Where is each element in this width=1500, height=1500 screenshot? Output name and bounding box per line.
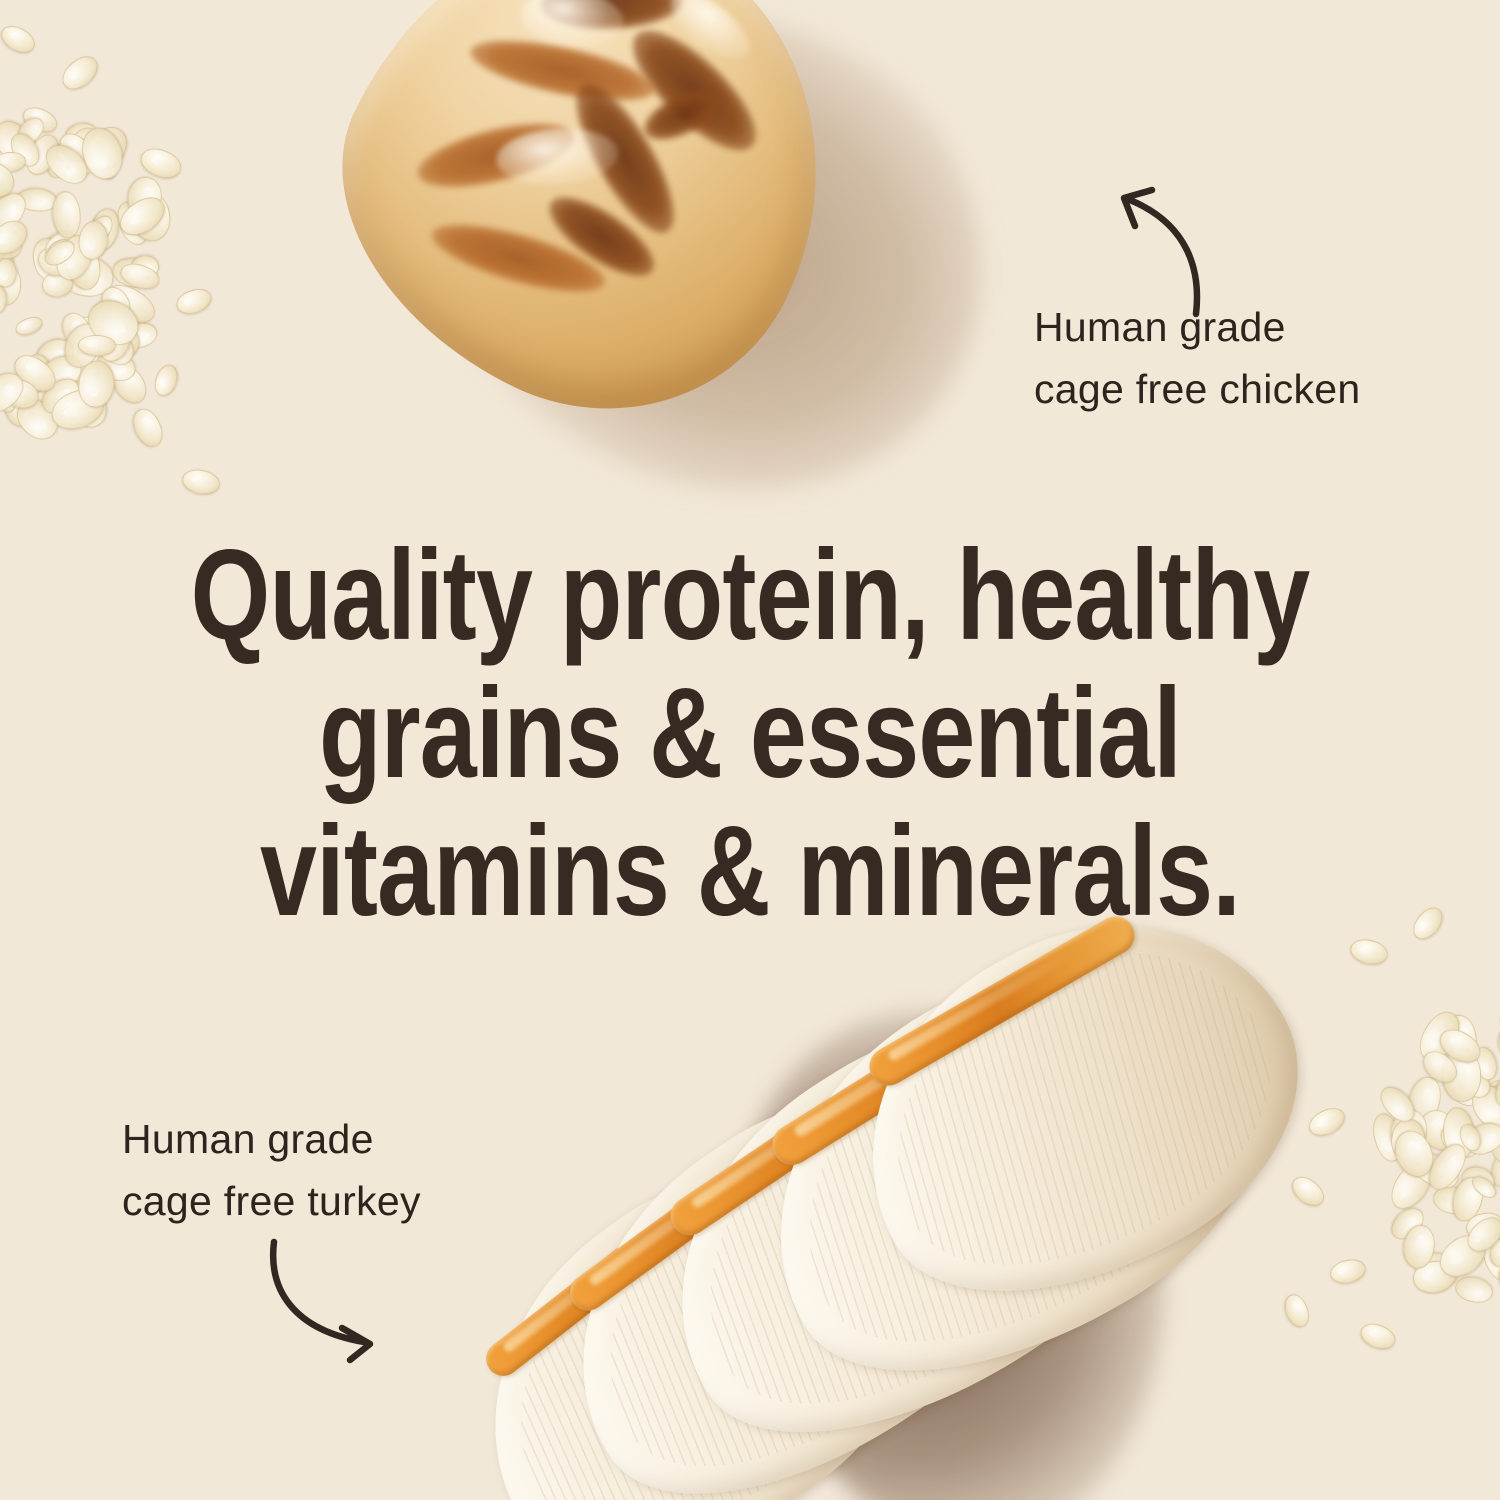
oat-flake [0,210,1,278]
oat-flake [1384,1154,1441,1216]
oat-flake [21,129,66,180]
oat-flake [0,153,20,205]
oat-flake [1457,1162,1499,1200]
callout-turkey-line-1: Human grade [122,1108,421,1170]
oat-flake [38,137,94,191]
oat-flake [62,326,112,377]
oat-flake [1461,1211,1500,1258]
oat-flake [58,318,109,375]
oat-flake [1479,1077,1500,1128]
oat-flake [1495,1074,1500,1107]
oat-flake [29,332,80,381]
oat-flake [180,466,222,498]
callout-turkey-line-2: cage free turkey [122,1170,421,1232]
oat-flake [93,346,140,385]
oat-flake [117,259,162,293]
oat-flake [1305,1103,1350,1142]
oat-flake [94,319,137,367]
oat-flake [80,292,146,354]
product-feature-image: Quality protein, healthy grains & essent… [0,0,1500,1500]
oat-flake [83,211,118,249]
grilled-chicken-breast-photo [286,0,986,488]
oat-flake [0,284,8,316]
oat-flake [106,359,152,409]
oat-flake [63,310,115,358]
oat-flake [1464,1210,1500,1242]
oat-flake [1388,1125,1440,1183]
oat-flake [64,240,103,292]
oat-flake [54,128,96,169]
oat-flake [41,271,74,299]
oat-flake [0,21,39,59]
oat-flake [63,121,99,149]
oat-flake [1493,991,1500,1037]
oat-flake [1485,1080,1500,1117]
oat-flake [56,372,115,435]
headline-line-2: grains & essential [150,665,1350,803]
page-headline: Quality protein, healthy grains & essent… [150,527,1350,941]
oat-flake [0,113,37,166]
oat-flake [1495,1245,1500,1285]
oat-flake [1,390,39,432]
callout-chicken-line-2: cage free chicken [1034,358,1360,420]
oat-flake [0,164,7,221]
oat-flake [118,320,160,352]
oat-flake [86,205,124,254]
oat-flake [30,235,70,285]
oat-flake [0,263,22,307]
oat-flake [19,102,61,137]
oat-flake [1487,1237,1500,1270]
oat-flake [1432,1227,1494,1285]
oat-flake [73,237,106,261]
oat-flake [0,374,43,414]
oat-flake [109,254,160,292]
oat-flake [1408,902,1449,944]
oat-flake [1430,1183,1475,1218]
oat-flake [1447,1173,1488,1225]
oat-flake [75,358,117,410]
oat-flake [1433,1023,1485,1070]
oat-flake [96,282,136,324]
oat-flake [57,254,115,300]
oat-flake [1403,1073,1445,1127]
oat-flake [0,151,27,172]
oat-flake [151,362,181,399]
oat-flake [137,143,186,184]
oat-flake [1386,1202,1430,1245]
curved-arrow-down-right-icon [258,1236,408,1366]
oat-flake [40,226,81,266]
callout-turkey: Human grade cage free turkey [122,1108,421,1232]
oat-flake [44,234,81,268]
rolled-oats-cluster-top-left [0,40,240,460]
oat-flake [1386,1106,1432,1158]
oat-flake [6,129,45,172]
oat-flake [0,206,4,265]
oat-flake [100,277,161,330]
oat-flake [33,243,74,282]
oat-flake [36,372,86,420]
oat-flake [1368,1110,1407,1165]
oat-flake [1455,1063,1496,1103]
oat-flake [1461,1117,1500,1160]
oat-flake [85,205,123,246]
callout-chicken-line-1: Human grade [1034,296,1360,358]
oat-flake [0,173,13,232]
oat-flake [75,219,110,262]
oat-flake [1422,1138,1473,1196]
oat-flake [1469,1172,1500,1202]
oat-flake [0,383,18,414]
oat-flake [1435,1118,1484,1165]
oat-flake [61,123,108,180]
oat-flake [9,391,65,447]
oat-flake [5,128,47,171]
oat-flake [22,354,53,394]
rolled-oats-cluster-right [1290,930,1500,1330]
sliced-roast-turkey-breast-photo [400,960,1300,1500]
oat-flake [49,229,100,286]
oat-flake [1472,1044,1500,1082]
oat-flake [0,365,31,421]
oat-flake [1441,1106,1476,1160]
oat-flake [1357,1319,1399,1354]
oat-flake [1494,1022,1500,1065]
oat-flake [1449,1066,1493,1108]
oat-flake [1413,1103,1467,1158]
oat-flake [0,186,33,242]
oat-flake [113,190,171,242]
oat-flake [40,236,79,270]
oat-flake [80,122,135,180]
oat-flake [1442,1048,1481,1101]
oat-flake [34,349,87,397]
headline-line-3: vitamins & minerals. [150,803,1350,941]
oat-flake [1477,1224,1500,1284]
oat-flake [1456,1121,1484,1154]
oat-flake [0,214,33,261]
oat-flake [1492,1259,1500,1312]
oat-flake [1410,1247,1463,1292]
oat-flake [1389,1117,1427,1163]
oat-flake [81,146,122,185]
oat-flake [1448,1077,1487,1111]
oat-flake [77,119,136,179]
oat-flake [15,186,59,213]
oat-flake [1406,1145,1465,1195]
oat-flake [1487,1054,1500,1114]
oat-flake [1488,1122,1500,1169]
oat-flake [1464,1078,1500,1134]
oat-flake [1417,1045,1463,1089]
oat-flake [1442,1012,1480,1060]
oat-flake [112,197,153,248]
oat-flake [1412,1005,1467,1067]
oat-flake [0,257,18,288]
oat-flake [1453,1273,1496,1306]
oat-flake [128,404,168,451]
oat-flake [1328,1257,1368,1287]
oat-flake [1400,1222,1438,1270]
oat-flake [13,113,49,149]
callout-chicken: Human grade cage free chicken [1034,296,1360,420]
oat-flake [77,123,129,184]
oat-flake [56,50,103,95]
oat-flake [41,226,80,260]
oat-flake [89,321,140,373]
oat-flake [91,321,143,367]
oat-flake [173,285,214,318]
oat-flake [1375,1081,1421,1128]
oat-flake [1348,936,1391,969]
headline-line-1: Quality protein, healthy [150,527,1350,665]
oat-flake [1489,1110,1500,1158]
oat-flake [125,174,165,221]
oat-flake [8,348,62,399]
oat-flake [126,189,173,244]
oat-flake [13,313,45,338]
oat-flake [46,383,109,436]
oat-flake [51,190,82,239]
oat-flake [56,308,98,355]
oat-flake [0,217,2,259]
oat-flake [130,255,159,280]
oat-flake [44,143,74,181]
oat-flake [0,218,28,266]
oat-flake [1411,1258,1458,1295]
oat-flake [1496,1139,1500,1169]
oat-flake [1485,1141,1500,1193]
oat-flake [77,334,115,356]
oat-flake [0,239,14,287]
